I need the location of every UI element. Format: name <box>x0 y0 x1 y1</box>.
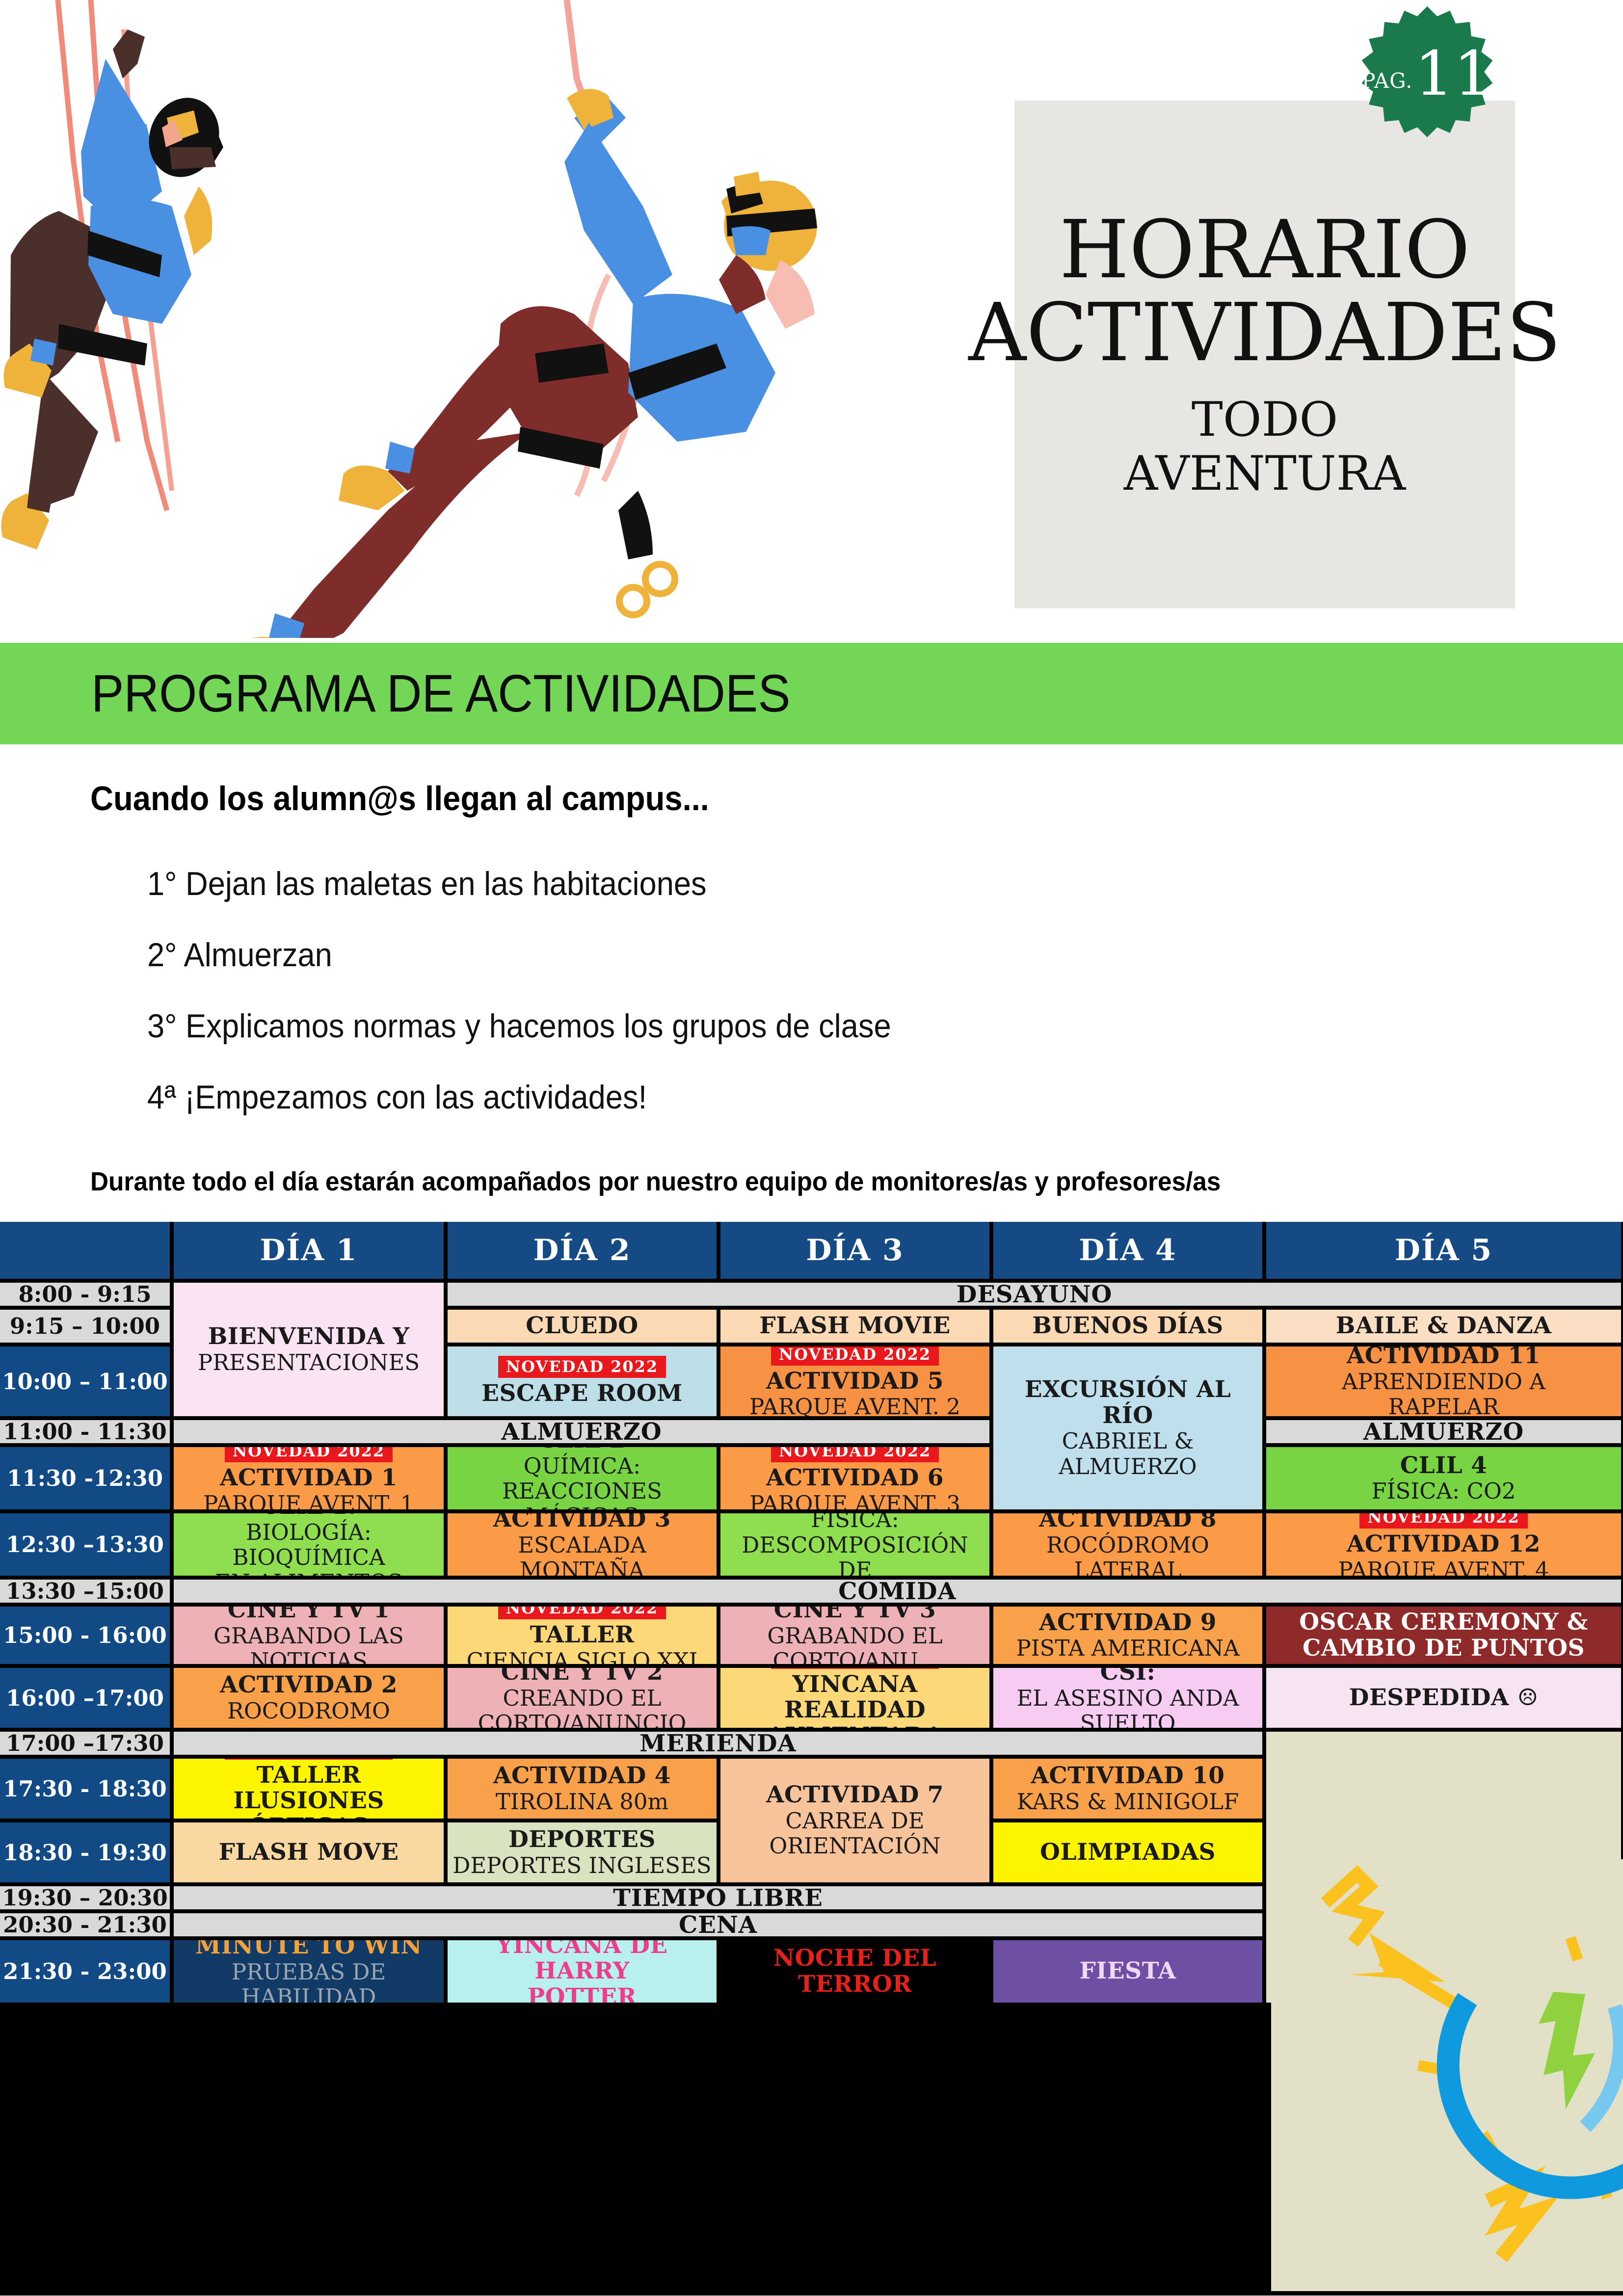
cell-subtitle: CABRIEL & ALMUERZO <box>998 1428 1257 1479</box>
day-header-3: DÍA 3 <box>720 1222 989 1279</box>
cell-taller-ciencia: NOVEDAD 2022TALLERCIENCIA SIGLO XXI <box>448 1607 717 1664</box>
cell-clil-1: CLIL 1:BIOLOGÍA: BIOQUÍMICAEN ALIMENTOS <box>174 1513 444 1576</box>
cell-cine-tv-3: CINE Y TV 3GRABANDO ELCORTO/ANU... <box>720 1607 989 1664</box>
cell-subtitle: PARQUE AVENT. 4 <box>1338 1557 1549 1576</box>
cell-subtitle: FÍSICA: CO2 <box>1372 1478 1516 1504</box>
cell-subtitle: CARREA DEORIENTACIÓN <box>769 1808 940 1859</box>
cell-excursion: EXCURSIÓN AL RÍOCABRIEL & ALMUERZO <box>993 1346 1262 1509</box>
novedad-badge: NOVEDAD 2022 <box>498 1607 666 1619</box>
cell-clil-3: CLIL 3FÍSICA:DESCOMPOSICIÓN DELA LUZ <box>720 1513 989 1576</box>
page-number-badge: PAG. 11 <box>1356 5 1498 147</box>
cell-buenos-dias: BUENOS DÍAS <box>993 1310 1262 1343</box>
band-almuerzo-dia5: ALMUERZO <box>1266 1420 1621 1443</box>
novedad-badge: NOVEDAD 2022 <box>225 1447 393 1462</box>
cell-title: TALLER ILUSIONESÓPTICAS <box>179 1763 439 1819</box>
time-label-5: 11:30 -12:30 <box>0 1447 170 1509</box>
band-comida: COMIDA <box>174 1580 1621 1603</box>
cell-title: ACTIVIDAD 12 <box>1347 1531 1541 1557</box>
cell-subtitle: TIROLINA 80m <box>496 1789 668 1814</box>
cell-title: TALLER <box>530 1622 635 1648</box>
cell-actividad-8: ACTIVIDAD 8ROCÓDROMO LATERAL <box>993 1513 1262 1576</box>
cell-despedida: DESPEDIDA ☹ <box>1266 1668 1621 1728</box>
intro-step-1: 1° Dejan las maletas en las habitaciones <box>147 865 707 903</box>
cell-subtitle: CIENCIA SIGLO XXI <box>467 1648 698 1664</box>
cell-actividad-1: NOVEDAD 2022ACTIVIDAD 1PARQUE AVENT. 1 <box>174 1447 444 1509</box>
cell-title: ACTIVIDAD 1 <box>220 1465 398 1491</box>
band-cena: CENA <box>174 1913 1262 1936</box>
cell-minute-to-win: MINUTE TO WINPRUEBAS DEHABILIDAD <box>174 1940 444 2003</box>
cell-clil-4: CLIL 4FÍSICA: CO2 <box>1266 1447 1621 1509</box>
cell-subtitle: QUÍMICA: REACCIONESMÁGICAS <box>452 1453 712 1509</box>
band-merienda: MERIENDA <box>174 1732 1262 1755</box>
cell-subtitle: PARQUE AVENT. 2 <box>749 1394 960 1416</box>
cell-subtitle: GRABANDO ELCORTO/ANU... <box>767 1623 942 1664</box>
time-label-11: 17:30 - 18:30 <box>0 1759 170 1819</box>
cell-actividad-9: ACTIVIDAD 9PISTA AMERICANA <box>993 1607 1262 1664</box>
page-subtitle-line1: TODO <box>1192 393 1338 447</box>
day-header-2: DÍA 2 <box>448 1222 717 1279</box>
novedad-badge: NOVEDAD 2022 <box>771 1346 939 1366</box>
intro-step-3: 3° Explicamos normas y hacemos los grupo… <box>147 1007 891 1045</box>
time-label-8: 15:00 - 16:00 <box>0 1607 170 1664</box>
cell-title: ACTIVIDAD 2 <box>220 1672 398 1698</box>
cell-title: ACTIVIDAD 5 <box>766 1369 944 1395</box>
cell-subtitle: FÍSICA:DESCOMPOSICIÓN DELA LUZ <box>725 1513 984 1576</box>
cell-olimpiadas: OLIMPIADAS <box>993 1822 1262 1882</box>
cell-title: FLASH MOVE <box>218 1840 399 1866</box>
section-header-label: PROGRAMA DE ACTIVIDADES <box>91 662 790 724</box>
cell-taller-opticas: NOVEDAD 2022TALLER ILUSIONESÓPTICAS <box>174 1759 444 1819</box>
time-label-14: 20:30 - 21:30 <box>0 1913 170 1936</box>
cell-title: BIENVENIDA Y <box>208 1324 410 1350</box>
band-tiempo_libre: TIEMPO LIBRE <box>174 1886 1262 1909</box>
cell-actividad-12: NOVEDAD 2022ACTIVIDAD 12PARQUE AVENT. 4 <box>1266 1513 1621 1576</box>
cell-subtitle: PRUEBAS DEHABILIDAD <box>232 1959 386 2003</box>
cell-subtitle: ESCALADA MONTAÑA <box>452 1532 712 1576</box>
cell-title: CINE Y TV 1 <box>228 1607 390 1623</box>
cell-title: CSI: <box>1100 1668 1156 1686</box>
cell-escape-room: NOVEDAD 2022ESCAPE ROOM <box>448 1346 717 1416</box>
section-header-bar: PROGRAMA DE ACTIVIDADES <box>0 643 1623 744</box>
intro-section: Cuando los alumn@s llegan al campus... 1… <box>0 744 1623 1222</box>
cell-subtitle: KARS & MINIGOLF <box>1017 1789 1239 1814</box>
cell-subtitle: APRENDIENDO ARAPELAR <box>1342 1369 1545 1416</box>
day-header-4: DÍA 4 <box>993 1222 1262 1279</box>
time-label-1: 8:00 - 9:15 <box>0 1283 170 1306</box>
cell-title: CLIL 2 <box>538 1447 626 1453</box>
climbers-illustration <box>0 0 883 638</box>
cell-subtitle: CREANDO ELCORTO/ANUNCIO <box>478 1686 687 1728</box>
cell-title: ACTIVIDAD 9 <box>1039 1610 1217 1636</box>
compass-decoration <box>1271 1859 1623 2291</box>
time-label-6: 12:30 –13:30 <box>0 1513 170 1576</box>
page-subtitle-line2: AVENTURA <box>1124 447 1406 501</box>
cell-title: CLIL 1: <box>261 1513 356 1520</box>
cell-flash-move: FLASH MOVE <box>174 1822 444 1882</box>
cell-title: EXCURSIÓN AL RÍO <box>998 1377 1257 1428</box>
cell-actividad-6: NOVEDAD 2022ACTIVIDAD 6PARQUE AVENT. 3 <box>720 1447 989 1509</box>
cell-actividad-11: ACTIVIDAD 11APRENDIENDO ARAPELAR <box>1266 1346 1621 1416</box>
cell-csi: CSI:EL ASESINO ANDASUELTO <box>993 1668 1262 1728</box>
cell-subtitle: BIOLOGÍA: BIOQUÍMICAEN ALIMENTOS <box>179 1520 439 1576</box>
cell-subtitle: ROCODROMO <box>227 1698 390 1723</box>
time-label-10: 17:00 –17:30 <box>0 1732 170 1755</box>
intro-footer: Durante todo el día estarán acompañados … <box>90 1166 1221 1197</box>
cell-cluedo: CLUEDO <box>448 1310 717 1343</box>
time-label-2: 9:15 – 10:00 <box>0 1310 170 1343</box>
band-almuerzo: ALMUERZO <box>174 1420 989 1443</box>
cell-title: ACTIVIDAD 7 <box>766 1782 944 1808</box>
novedad-badge: NOVEDAD 2022 <box>225 1759 393 1760</box>
day-header-5: DÍA 5 <box>1266 1222 1621 1279</box>
time-label-15: 21:30 - 23:00 <box>0 1940 170 2003</box>
cell-subtitle: ROCÓDROMO LATERAL <box>998 1532 1257 1576</box>
cell-title: DESPEDIDA ☹ <box>1349 1685 1539 1711</box>
time-label-3: 10:00 – 11:00 <box>0 1346 170 1416</box>
time-label-9: 16:00 –17:00 <box>0 1668 170 1728</box>
cell-actividad-7: ACTIVIDAD 7CARREA DEORIENTACIÓN <box>720 1759 989 1882</box>
band-desayuno: DESAYUNO <box>448 1283 1621 1306</box>
cell-noche-del-terror: NOCHE DEL TERROR <box>720 1940 989 2003</box>
cell-title: ACTIVIDAD 3 <box>493 1513 671 1532</box>
cell-title: ESCAPE ROOM <box>481 1381 683 1407</box>
title-card: HORARIO ACTIVIDADES TODO AVENTURA <box>1014 101 1515 608</box>
cell-title: YINCANA REALIDADAUMENTADA <box>725 1672 984 1728</box>
cell-title: ACTIVIDAD 4 <box>493 1763 671 1789</box>
cell-subtitle: DEPORTES INGLESES <box>452 1853 712 1878</box>
cell-subtitle: EL ASESINO ANDASUELTO <box>1017 1686 1239 1728</box>
cell-title: CINE Y TV 3 <box>774 1607 936 1623</box>
cell-yincana-ra: NOVEDAD 2022YINCANA REALIDADAUMENTADA <box>720 1668 989 1728</box>
novedad-badge: NOVEDAD 2022 <box>771 1668 939 1669</box>
cell-cine-tv-1: CINE Y TV 1GRABANDO LASNOTICIAS <box>174 1607 444 1664</box>
time-label-13: 19:30 – 20:30 <box>0 1886 170 1909</box>
cell-title: FLASH MOVIE <box>759 1313 951 1339</box>
cell-title: NOCHE DEL TERROR <box>725 1946 984 1997</box>
cell-subtitle: PRESENTACIONES <box>198 1350 420 1375</box>
cell-actividad-2: ACTIVIDAD 2ROCODROMO <box>174 1668 444 1728</box>
cell-title: CLIL 4 <box>1400 1453 1488 1479</box>
cell-subtitle: PISTA AMERICANA <box>1016 1636 1239 1661</box>
day-header-1: DÍA 1 <box>174 1222 444 1279</box>
cell-clil-2: CLIL 2QUÍMICA: REACCIONESMÁGICAS <box>448 1447 717 1509</box>
cell-title: ACTIVIDAD 11 <box>1347 1346 1541 1369</box>
cell-title: ACTIVIDAD 6 <box>766 1465 944 1491</box>
cell-deportes: DEPORTESDEPORTES INGLESES <box>448 1822 717 1882</box>
cell-title: ACTIVIDAD 10 <box>1031 1763 1224 1789</box>
cell-title: MINUTE TO WIN <box>195 1940 422 1959</box>
cell-title: CINE Y TV 2 <box>501 1668 663 1686</box>
novedad-badge: NOVEDAD 2022 <box>498 1356 666 1378</box>
cell-subtitle: PARQUE AVENT. 1 <box>203 1491 414 1509</box>
cell-title: DEPORTES <box>508 1827 656 1853</box>
badge-page-number: 11 <box>1415 43 1493 109</box>
cell-title: BUENOS DÍAS <box>1032 1313 1223 1339</box>
time-label-4: 11:00 - 11:30 <box>0 1420 170 1443</box>
cell-title: CLUEDO <box>526 1313 638 1339</box>
time-label-12: 18:30 - 19:30 <box>0 1822 170 1882</box>
page-title-line2: ACTIVIDADES <box>968 291 1561 375</box>
cell-actividad-3: ACTIVIDAD 3ESCALADA MONTAÑA <box>448 1513 717 1576</box>
cell-baile-danza: BAILE & DANZA <box>1266 1310 1621 1343</box>
novedad-badge: NOVEDAD 2022 <box>1359 1513 1527 1529</box>
cell-bienvenida: BIENVENIDA YPRESENTACIONES <box>174 1283 444 1416</box>
time-label-7: 13:30 –15:00 <box>0 1580 170 1603</box>
cell-title: ACTIVIDAD 8 <box>1039 1513 1217 1532</box>
cell-title: FIESTA <box>1080 1958 1176 1984</box>
cell-actividad-4: ACTIVIDAD 4TIROLINA 80m <box>448 1759 717 1819</box>
cell-flash-movie: FLASH MOVIE <box>720 1310 989 1343</box>
table-corner <box>0 1222 170 1279</box>
cell-subtitle: GRABANDO LASNOTICIAS <box>213 1623 404 1664</box>
hero-section: HORARIO ACTIVIDADES TODO AVENTURA PAG. 1… <box>0 0 1623 643</box>
cell-oscar-ceremony: OSCAR CEREMONY &CAMBIO DE PUNTOS <box>1266 1607 1621 1664</box>
page-title-line1: HORARIO <box>1060 209 1470 292</box>
cell-subtitle: PARQUE AVENT. 3 <box>749 1491 960 1509</box>
cell-title: OLIMPIADAS <box>1040 1840 1216 1866</box>
cell-title: YINCANA DE HARRYPOTTER <box>452 1940 712 2003</box>
cell-fiesta: FIESTA <box>993 1940 1262 2003</box>
cell-actividad-5: NOVEDAD 2022ACTIVIDAD 5PARQUE AVENT. 2 <box>720 1346 989 1416</box>
cell-title: OSCAR CEREMONY &CAMBIO DE PUNTOS <box>1299 1610 1588 1661</box>
intro-step-2: 2° Almuerzan <box>147 936 332 974</box>
cell-yincana-harry-potter: YINCANA DE HARRYPOTTER <box>448 1940 717 2003</box>
intro-lead: Cuando los alumn@s llegan al campus... <box>90 779 709 818</box>
badge-pag-label: PAG. <box>1361 60 1414 93</box>
cell-title: BAILE & DANZA <box>1336 1313 1552 1339</box>
intro-step-4: 4ª ¡Empezamos con las actividades! <box>147 1078 647 1116</box>
cell-actividad-10: ACTIVIDAD 10KARS & MINIGOLF <box>993 1759 1262 1819</box>
novedad-badge: NOVEDAD 2022 <box>771 1447 939 1462</box>
cell-cine-tv-2: CINE Y TV 2CREANDO ELCORTO/ANUNCIO <box>448 1668 717 1728</box>
